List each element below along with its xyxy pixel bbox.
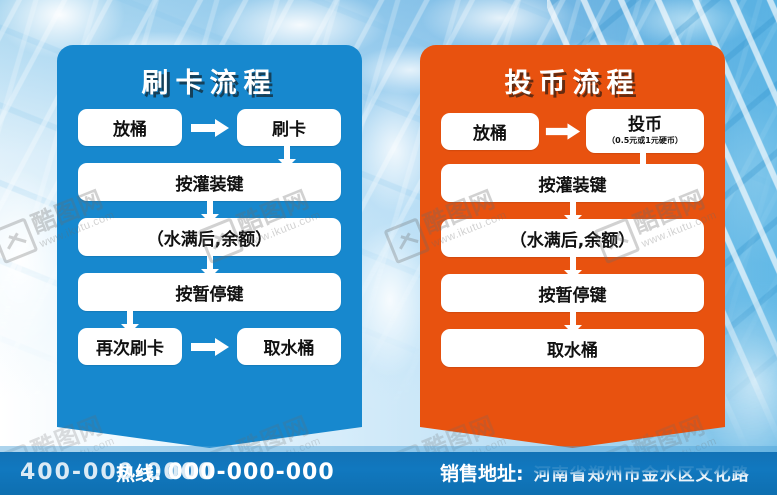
contact-bar: 400-000-0000 热线: 000-000-000 销售地址: 河南省郑州… [0, 452, 777, 495]
table-row: 放桶 刷卡 [78, 109, 341, 146]
step-label: 按暂停键 [539, 281, 607, 306]
arrow-right-icon [188, 118, 232, 138]
table-row: 按暂停键 [78, 273, 341, 311]
step-sublabel: （0.5元或1元硬币） [607, 135, 683, 146]
table-row: 取水桶 [441, 329, 704, 367]
step-box-water-full-balance[interactable]: （水满后,余额） [78, 218, 341, 256]
step-label: 再次刷卡 [96, 334, 164, 359]
flow-gap [441, 153, 704, 164]
step-label: 取水桶 [264, 334, 315, 359]
step-box-insert-coin[interactable]: 投币 （0.5元或1元硬币） [586, 109, 704, 153]
flow-gap [78, 146, 341, 163]
step-box-press-pause[interactable]: 按暂停键 [441, 274, 704, 312]
table-row: （水满后,余额） [441, 219, 704, 257]
table-row: 按暂停键 [441, 274, 704, 312]
flow-gap [78, 311, 341, 328]
panel-card-notch [57, 422, 362, 448]
panel-coin-notch [420, 422, 725, 448]
card-flow-steps: 放桶 刷卡 按灌装键 [78, 109, 341, 365]
table-row: （水满后,余额） [78, 218, 341, 256]
step-label: 放桶 [113, 115, 147, 140]
step-label: 投币 [628, 116, 662, 135]
step-box-place-bucket[interactable]: 放桶 [441, 113, 539, 150]
step-label: 取水桶 [547, 336, 598, 361]
hotline-group: 400-000-0000 热线: 000-000-000 [12, 459, 335, 486]
table-row: 再次刷卡 取水桶 [78, 328, 341, 365]
step-label: （水满后,余额） [147, 225, 272, 250]
coin-flow-steps: 放桶 投币 （0.5元或1元硬币） [441, 109, 704, 367]
hotline-ghost-number: 400-000-0000 [20, 460, 215, 485]
table-row: 按灌装键 [441, 164, 704, 202]
step-label: （水满后,余额） [510, 226, 635, 251]
step-box-water-full-balance[interactable]: （水满后,余额） [441, 219, 704, 257]
step-box-press-pause[interactable]: 按暂停键 [78, 273, 341, 311]
arrow-right-icon [188, 337, 232, 357]
address-group: 销售地址: 河南省郑州市金水区文化路 [440, 459, 750, 486]
step-label: 按暂停键 [176, 280, 244, 305]
step-label: 放桶 [473, 119, 507, 144]
step-box-place-bucket[interactable]: 放桶 [78, 109, 182, 146]
address-value: 河南省郑州市金水区文化路 [534, 460, 750, 485]
table-row: 按灌装键 [78, 163, 341, 201]
poster: 刷卡流程 放桶 刷卡 [0, 0, 777, 495]
step-box-press-fill[interactable]: 按灌装键 [441, 164, 704, 202]
step-label: 按灌装键 [539, 171, 607, 196]
table-row: 放桶 投币 （0.5元或1元硬币） [441, 109, 704, 153]
step-box-take-bucket[interactable]: 取水桶 [237, 328, 341, 365]
panel-coin-body: 投币流程 放桶 投币 （0.5元或1元硬币） [420, 45, 725, 422]
step-label: 按灌装键 [176, 170, 244, 195]
panel-card-title: 刷卡流程 [57, 61, 362, 100]
panel-coin-title: 投币流程 [420, 61, 725, 100]
panel-card-body: 刷卡流程 放桶 刷卡 [57, 45, 362, 422]
panel-coin-flow: 投币流程 放桶 投币 （0.5元或1元硬币） [420, 45, 725, 448]
step-box-swipe-card[interactable]: 刷卡 [237, 109, 341, 146]
panel-card-flow: 刷卡流程 放桶 刷卡 [57, 45, 362, 448]
step-box-press-fill[interactable]: 按灌装键 [78, 163, 341, 201]
address-label: 销售地址: [440, 459, 524, 486]
arrow-right-icon [544, 121, 582, 141]
step-label: 刷卡 [272, 115, 306, 140]
step-box-take-bucket[interactable]: 取水桶 [441, 329, 704, 367]
step-box-swipe-again[interactable]: 再次刷卡 [78, 328, 182, 365]
